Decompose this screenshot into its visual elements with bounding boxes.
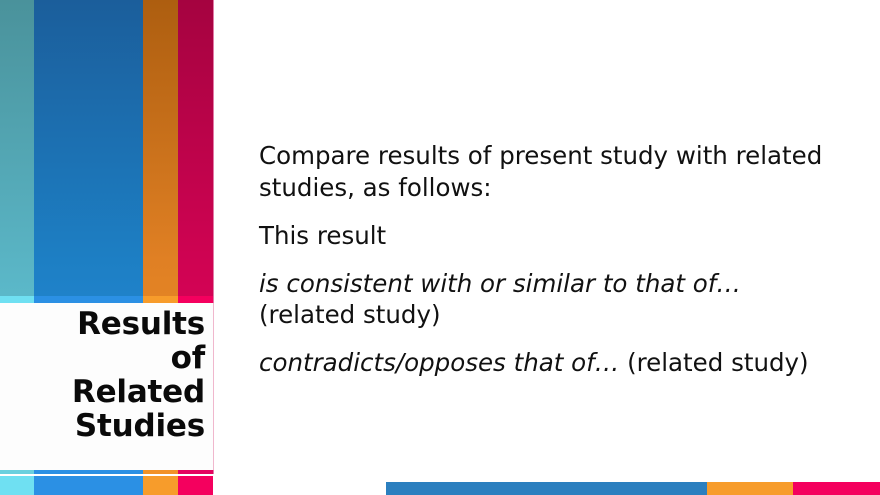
slide-body: Compare results of present study with re… [259,140,829,379]
body-paragraph-option-two: contradicts/opposes that of… (related st… [259,347,829,379]
accent-segment-teal [0,476,34,495]
accent-band-bottom [0,476,213,495]
bottom-accent-bar [213,482,880,495]
option-two-roman-text: (related study) [627,348,809,377]
bottom-bar-gap [213,482,386,495]
accent-segment-orange [143,476,178,495]
bottom-bar-segment-orange [707,482,793,495]
option-one-italic-text: is consistent with or similar to that of… [259,269,741,298]
bottom-bar-segment-pink [793,482,880,495]
option-one-roman-text: (related study) [259,300,441,329]
slide-title: Results of Related Studies [7,307,205,443]
accent-segment-blue [34,476,143,495]
slide: Results of Related Studies Compare resul… [0,0,880,495]
option-two-italic-text: contradicts/opposes that of… [259,348,627,377]
bottom-bar-segment-blue [386,482,707,495]
accent-segment-pink [178,476,213,495]
body-paragraph-intro: Compare results of present study with re… [259,140,829,204]
title-card-edge [213,303,214,470]
body-paragraph-lead-in: This result [259,220,829,252]
slide-title-card: Results of Related Studies [0,303,214,470]
body-paragraph-option-one: is consistent with or similar to that of… [259,268,829,332]
